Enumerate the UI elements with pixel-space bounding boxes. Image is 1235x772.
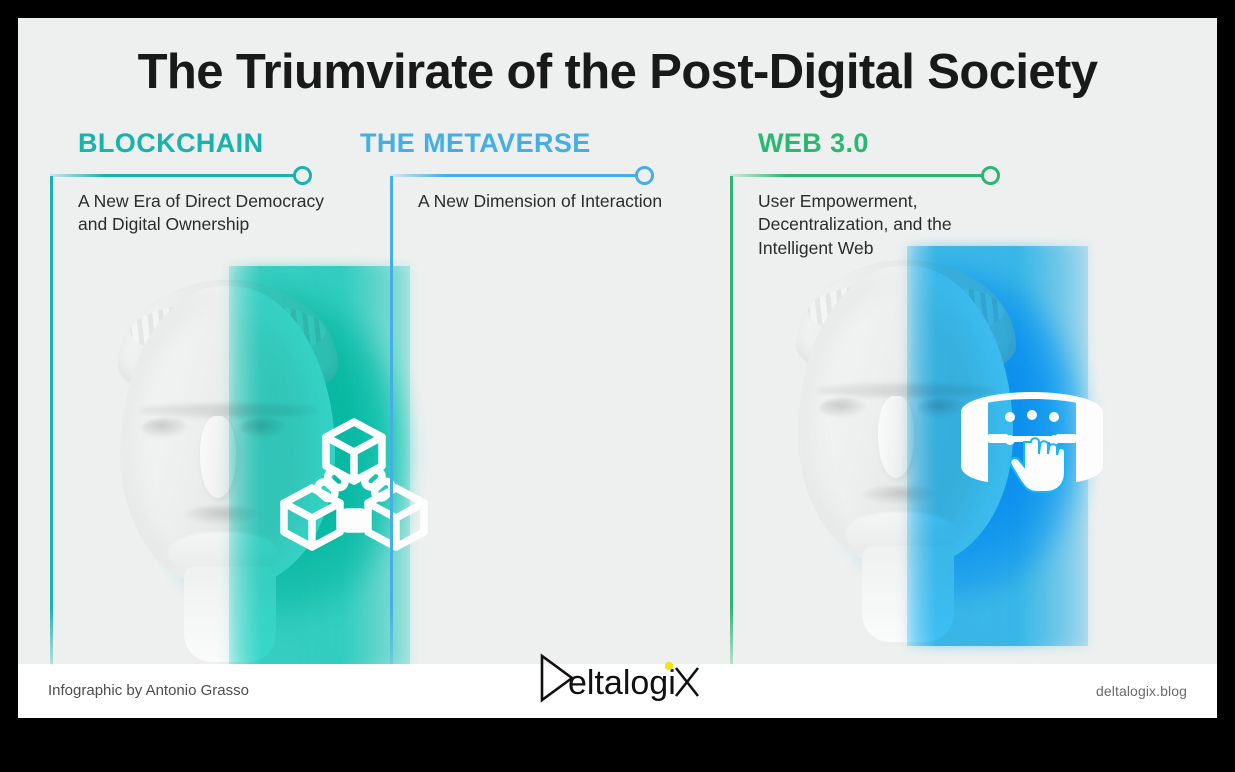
bust-eye-left xyxy=(142,418,189,438)
node-dot-icon xyxy=(635,166,654,185)
kicker-web3: WEB 3.0 xyxy=(758,128,869,159)
credit-text: Infographic by Antonio Grasso xyxy=(48,682,249,699)
rule-vertical xyxy=(390,176,393,666)
kicker-blockchain: BLOCKCHAIN xyxy=(78,128,264,159)
rule-horizontal xyxy=(390,174,642,177)
column-blockchain: BLOCKCHAIN A New Era of Direct Democracy… xyxy=(50,18,435,718)
rule-vertical xyxy=(730,176,733,666)
logo-wordmark: eltalogi xyxy=(568,664,676,702)
infographic-canvas: The Triumvirate of the Post-Digital Soci… xyxy=(18,18,1217,718)
column-metaverse: THE METAVERSE A New Dimension of Interac… xyxy=(390,18,775,718)
heading-group-metaverse: THE METAVERSE A New Dimension of Interac… xyxy=(390,128,775,188)
subtitle-web3: User Empowerment, Decentralization, and … xyxy=(758,190,1008,260)
column-web3: WEB 3.0 User Empowerment, Decentralizati… xyxy=(730,18,1130,718)
logo-dot-accent xyxy=(664,662,672,670)
subtitle-blockchain: A New Era of Direct Democracy and Digita… xyxy=(78,190,328,237)
deltalogix-logo[interactable]: eltalogi xyxy=(528,646,708,710)
subtitle-metaverse: A New Dimension of Interaction xyxy=(418,190,668,213)
rule-horizontal xyxy=(50,174,300,177)
node-dot-icon xyxy=(981,166,1000,185)
heading-group-web3: WEB 3.0 User Empowerment, Decentralizati… xyxy=(730,128,1130,188)
node-dot-icon xyxy=(293,166,312,185)
website-link[interactable]: deltalogix.blog xyxy=(1096,683,1187,699)
rule-vertical xyxy=(50,176,53,666)
kicker-metaverse: THE METAVERSE xyxy=(360,128,591,159)
footer-bar: Infographic by Antonio Grasso deltalogix… xyxy=(18,664,1217,718)
rule-horizontal xyxy=(730,174,988,177)
